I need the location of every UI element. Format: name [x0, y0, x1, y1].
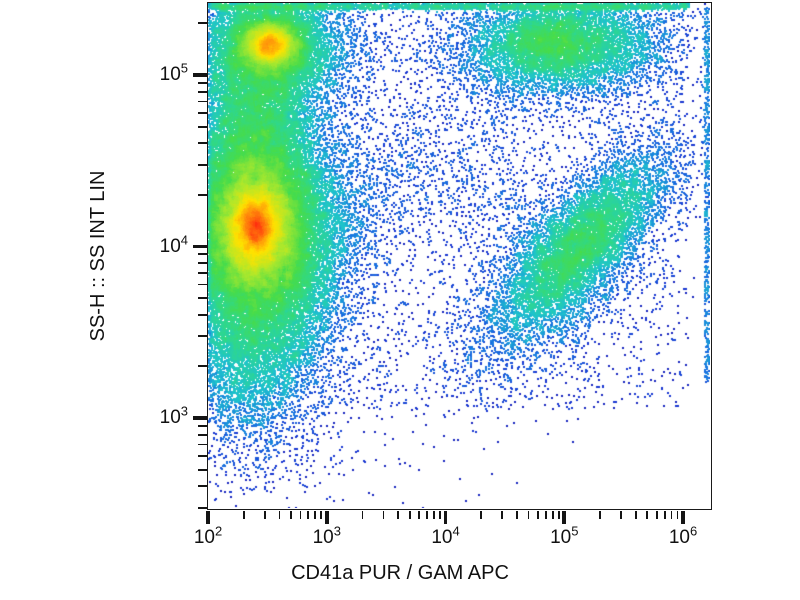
x-tick-minor [243, 511, 245, 519]
x-tick-label: 106 [669, 527, 697, 549]
x-tick-minor [320, 511, 322, 519]
x-tick-minor [480, 511, 482, 519]
y-tick-minor [198, 272, 207, 274]
x-tick-label: 103 [313, 527, 341, 549]
x-tick-minor [290, 511, 292, 519]
x-tick-minor [646, 511, 648, 519]
x-tick-minor [397, 511, 399, 519]
y-tick-minor [198, 434, 207, 436]
x-tick-major [444, 511, 448, 524]
x-tick-major [681, 511, 685, 524]
x-tick-minor [409, 511, 411, 519]
x-tick-minor [307, 511, 309, 519]
y-tick-minor [198, 22, 207, 24]
y-tick-minor [198, 455, 207, 457]
x-tick-minor [314, 511, 316, 519]
y-tick-major [193, 245, 207, 249]
y-tick-label: 105 [160, 64, 188, 86]
x-tick-minor [501, 511, 503, 519]
x-tick-minor [264, 511, 266, 519]
y-tick-minor [198, 194, 207, 196]
y-tick-minor [198, 314, 207, 316]
y-tick-minor [198, 101, 207, 103]
x-tick-minor [671, 511, 673, 519]
x-tick-minor [516, 511, 518, 519]
y-tick-minor [198, 284, 207, 286]
y-tick-minor [198, 365, 207, 367]
x-tick-minor [537, 511, 539, 519]
y-tick-minor [198, 444, 207, 446]
x-tick-minor [552, 511, 554, 519]
y-tick-major [193, 416, 207, 420]
y-tick-major [193, 73, 207, 77]
x-tick-minor [433, 511, 435, 519]
x-tick-minor [599, 511, 601, 519]
x-tick-label: 105 [550, 527, 578, 549]
y-tick-minor [198, 142, 207, 144]
x-tick-major [206, 511, 210, 524]
x-tick-minor [635, 511, 637, 519]
x-tick-minor [418, 511, 420, 519]
x-tick-label: 104 [431, 527, 459, 549]
x-tick-minor [279, 511, 281, 519]
x-tick-minor [664, 511, 666, 519]
y-tick-label: 104 [160, 236, 188, 258]
x-tick-label: 102 [194, 527, 222, 549]
x-tick-minor [383, 511, 385, 519]
x-tick-major [325, 511, 329, 524]
plot-frame [207, 2, 712, 510]
scatter-plot-canvas [208, 3, 710, 508]
y-axis-title: SS-H :: SS INT LIN [78, 2, 118, 510]
y-tick-label: 103 [160, 407, 188, 429]
y-tick-minor [198, 335, 207, 337]
y-tick-minor [198, 91, 207, 93]
y-tick-minor [198, 112, 207, 114]
y-tick-minor [198, 253, 207, 255]
y-tick-minor [198, 469, 207, 471]
x-axis-title: CD41a PUR / GAM APC [0, 562, 800, 585]
y-tick-minor [198, 82, 207, 84]
flow-cytometry-figure: 102103104105106 103104105 CD41a PUR / GA… [0, 0, 800, 600]
x-tick-minor [362, 511, 364, 519]
y-tick-minor [198, 297, 207, 299]
x-tick-minor [439, 511, 441, 519]
x-tick-minor [545, 511, 547, 519]
y-tick-minor [198, 164, 207, 166]
y-tick-minor [198, 425, 207, 427]
x-tick-minor [558, 511, 560, 519]
x-tick-minor [300, 511, 302, 519]
x-tick-minor [528, 511, 530, 519]
y-tick-minor [198, 507, 207, 509]
x-tick-minor [620, 511, 622, 519]
x-tick-minor [656, 511, 658, 519]
y-tick-minor [198, 485, 207, 487]
x-tick-major [562, 511, 566, 524]
y-tick-minor [198, 262, 207, 264]
y-tick-minor [198, 126, 207, 128]
x-tick-minor [677, 511, 679, 519]
x-tick-minor [426, 511, 428, 519]
